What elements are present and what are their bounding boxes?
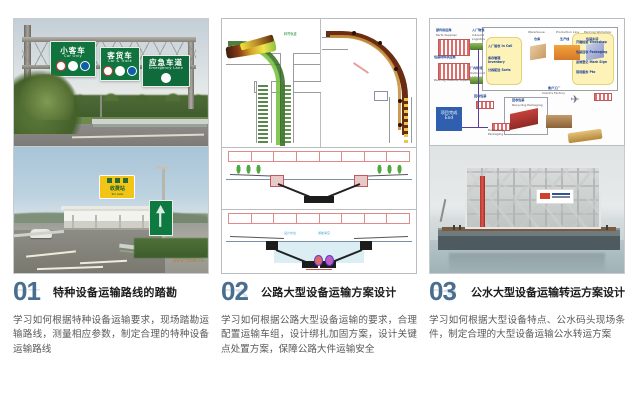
packing-supplier-label-en: Packing Material Supplier bbox=[434, 79, 472, 83]
production-line-label-en: Production Line bbox=[556, 31, 579, 35]
outbound-truck-icon bbox=[470, 77, 483, 84]
road-sign-2-en: Car & Truck bbox=[108, 60, 132, 64]
column-1-media: 小客车 Car Only 客货车 Car & Truck bbox=[13, 18, 209, 274]
section-number-2-reflection: 02 bbox=[221, 287, 248, 301]
banner-text-bar bbox=[552, 193, 570, 195]
swept-hatch-1 bbox=[258, 85, 268, 143]
road-sign-1-cn: 小客车 bbox=[60, 47, 86, 55]
reworking-label: Reworking Packaging bbox=[488, 129, 514, 137]
toll-gate-sign-icons bbox=[107, 178, 128, 183]
toll-gate-sign: 收费站 Toll Gate bbox=[99, 175, 135, 199]
banner-logo-icon bbox=[540, 193, 550, 199]
person-icon bbox=[115, 178, 120, 183]
curve-path-inner bbox=[330, 35, 401, 130]
recycling-label: 回收包装 bbox=[474, 95, 494, 99]
section-number-1: 0101 bbox=[13, 278, 40, 304]
toll-booth-leg bbox=[119, 215, 121, 228]
photo-highway-gantry-signs: 小客车 Car Only 客货车 Car & Truck bbox=[13, 18, 209, 146]
tree-symbol bbox=[397, 165, 402, 175]
project-end-box: 项目完成 End bbox=[436, 107, 462, 131]
curve-node bbox=[378, 41, 382, 45]
road-sign-2-cn: 客货车 bbox=[107, 52, 133, 60]
toll-booth bbox=[64, 209, 149, 229]
dimension-line bbox=[306, 269, 332, 270]
cad-cell bbox=[252, 214, 275, 223]
tree-symbol bbox=[236, 165, 241, 175]
section-number-3-reflection: 03 bbox=[429, 287, 456, 301]
culvert-cross-section: 设计水位 通航净空 bbox=[226, 211, 412, 273]
container-truck-icon bbox=[546, 115, 572, 128]
project-end-en: End bbox=[445, 115, 453, 120]
cad-curve-swept-path bbox=[322, 23, 412, 145]
cad-junction-swept-path: 转弯轨迹 bbox=[226, 23, 320, 145]
tree-symbol bbox=[377, 165, 382, 175]
curve-node bbox=[398, 99, 402, 103]
cad-label-junction: 转弯轨迹 bbox=[284, 31, 297, 36]
cad-title-block bbox=[228, 213, 410, 224]
clearance-label: 通航净空 bbox=[318, 231, 330, 235]
cad-row-bridge-section bbox=[222, 147, 416, 210]
water-level-label: 设计水位 bbox=[284, 231, 296, 235]
cad-cell bbox=[365, 214, 388, 223]
min-speed-icon bbox=[127, 66, 137, 76]
cad-row-plan-views: 转弯轨迹 bbox=[222, 19, 416, 148]
vehicle-icon bbox=[115, 66, 125, 76]
packing-workshop-label-en: Packing Workshop bbox=[584, 31, 611, 35]
section-title-3: 公水大型设备运输转运方案设计 bbox=[471, 284, 625, 300]
crane-mast bbox=[439, 199, 446, 222]
road-sign-3-icons bbox=[161, 73, 171, 83]
embankment-right bbox=[354, 236, 408, 239]
cad-row-culvert-section: 设计水位 通航净空 bbox=[222, 209, 416, 274]
warehouse-label-cn: 仓库 bbox=[534, 38, 540, 42]
photo-steel-module-on-barge bbox=[429, 146, 625, 274]
direction-sign bbox=[149, 200, 173, 236]
centerline-dots bbox=[404, 97, 408, 143]
caption-header-1: 0101 特种设备运输路线的踏勘 bbox=[13, 282, 209, 308]
section-body-1: 学习如何根据特种设备运输要求，现场踏勘运输路线，测量相应参数，制定合理的特种设备… bbox=[13, 314, 209, 357]
caption-header-2: 0202 公路大型设备运输方案设计 bbox=[221, 282, 417, 308]
cad-cell bbox=[252, 152, 275, 161]
water-reflection bbox=[449, 253, 604, 273]
roadside-bush-2 bbox=[20, 74, 74, 120]
warehouse-item-1: 入厂验收 In Call bbox=[488, 45, 518, 49]
media-stack-3: 部件供应商 Parts Supplier 包装材料供应商 Packing Mat… bbox=[429, 18, 625, 274]
client-item-1: 开箱检验 Workshop bbox=[576, 41, 612, 45]
cad-drawing-panel: 转弯轨迹 bbox=[221, 18, 417, 274]
tree-symbol bbox=[387, 165, 392, 175]
cad-cell bbox=[365, 152, 388, 161]
caption-block-2: 0202 公路大型设备运输方案设计 学习如何根据公路大型设备运输的要求，合理配置… bbox=[221, 282, 417, 357]
cad-cell bbox=[229, 152, 252, 161]
client-item-2: 包装回收 Packaging bbox=[576, 51, 612, 55]
swept-hatch-2 bbox=[282, 85, 291, 143]
airplane-icon: ✈ bbox=[566, 95, 584, 105]
toll-booth-leg bbox=[142, 215, 144, 228]
cad-cell bbox=[297, 152, 320, 161]
section-number-1-reflection: 01 bbox=[13, 287, 40, 301]
cad-cell bbox=[320, 214, 343, 223]
packing-supplier-label: 包装材料供应商 bbox=[434, 56, 472, 60]
caption-header-3: 0303 公水大型设备运输转运方案设计 bbox=[429, 282, 625, 308]
cad-note-box bbox=[374, 91, 388, 101]
toll-booth-leg bbox=[72, 215, 74, 228]
truck-icon bbox=[123, 178, 128, 183]
toll-gate-sign-en: Toll Gate bbox=[111, 192, 123, 196]
cad-cell bbox=[274, 152, 297, 161]
project-banner bbox=[536, 189, 574, 204]
project-end-cn: 项目完成 bbox=[441, 110, 458, 115]
section-title-1: 特种设备运输路线的踏勘 bbox=[53, 284, 177, 300]
cad-cell bbox=[387, 152, 409, 161]
cad-cell bbox=[387, 214, 409, 223]
car-icon bbox=[107, 178, 112, 183]
lane-icon bbox=[161, 73, 171, 83]
barge-hull bbox=[438, 228, 620, 250]
parts-supplier-block bbox=[438, 39, 470, 56]
worker bbox=[453, 225, 455, 230]
diagram-logistics-flow: 部件供应商 Parts Supplier 包装材料供应商 Packing Mat… bbox=[429, 18, 625, 146]
cargo-ship-icon bbox=[567, 129, 602, 144]
cad-cell bbox=[342, 152, 365, 161]
light-fixture bbox=[155, 166, 169, 169]
slide-root: 小客车 Car Only 客货车 Car & Truck bbox=[0, 0, 639, 402]
distant-pole bbox=[100, 95, 102, 117]
worker bbox=[459, 225, 461, 230]
warehouse-icon bbox=[530, 44, 546, 61]
toll-booth-leg bbox=[95, 215, 97, 228]
cad-title-block bbox=[228, 151, 410, 162]
cad-cell bbox=[320, 152, 343, 161]
cad-cell bbox=[229, 214, 252, 223]
speed-limit-icon bbox=[103, 66, 113, 76]
swept-path-inner bbox=[232, 45, 280, 145]
road-sign-2: 客货车 Car & Truck bbox=[100, 47, 140, 81]
curve-node bbox=[398, 123, 402, 127]
bridge-cross-section bbox=[226, 149, 412, 207]
client-factory-label-en: Client's Factory bbox=[542, 92, 565, 96]
road-edge-c bbox=[411, 97, 412, 143]
guardrail bbox=[92, 119, 208, 124]
warehouse-item-2: 库存管理 Inventory bbox=[488, 57, 518, 65]
section-number-2: 0202 bbox=[221, 278, 248, 304]
road-sign-1-en: Car Only bbox=[64, 55, 82, 59]
client-item-3: 返修登记 Mark Sign bbox=[576, 61, 612, 65]
inbound-truck-icon bbox=[470, 43, 483, 50]
section-title-2: 公路大型设备运输方案设计 bbox=[261, 284, 397, 300]
curve-node bbox=[394, 67, 398, 71]
flow-line-end bbox=[462, 127, 488, 128]
photo-watermark: www.road.cn bbox=[173, 258, 204, 263]
ground-line bbox=[226, 241, 412, 242]
warehouse-label-en: Warehouse bbox=[528, 31, 545, 35]
worker bbox=[606, 225, 608, 230]
client-item-4: 现场服务 Pto bbox=[576, 71, 612, 75]
cad-cell bbox=[342, 214, 365, 223]
red-column bbox=[480, 176, 485, 227]
caption-block-1: 0101 特种设备运输路线的踏勘 学习如何根据特种设备运输要求，现场踏勘运输路线… bbox=[13, 282, 209, 357]
marker-circle-b bbox=[325, 255, 334, 266]
section-body-2: 学习如何根据公路大型设备运输的要求，合理配置运输车组，设计绑扎加固方案，设计关键… bbox=[221, 314, 417, 357]
column-2-media: 转弯轨迹 bbox=[221, 18, 417, 274]
flow-line-vertical bbox=[478, 49, 479, 127]
section-body-3: 学习如何根据大型设备特点、公水码头现场条件，制定合理的大型设备运输公水转运方案 bbox=[429, 314, 625, 343]
cad-cell bbox=[274, 214, 297, 223]
media-stack-1: 小客车 Car Only 客货车 Car & Truck bbox=[13, 18, 209, 274]
caption-block-3: 0303 公水大型设备运输转运方案设计 学习如何根据大型设备特点、公水码头现场条… bbox=[429, 282, 625, 343]
curve-node bbox=[352, 31, 356, 35]
toll-gate-sign-cn: 收费站 bbox=[110, 185, 125, 192]
parts-supplier-label-en: Parts Supplier bbox=[436, 34, 470, 38]
foundation-right bbox=[318, 196, 334, 203]
section-number-3: 0303 bbox=[429, 278, 456, 304]
production-line-label-cn: 生产线 bbox=[560, 38, 569, 42]
road-sign-3: 应急车道 Emergency Lane bbox=[142, 55, 190, 87]
tree-symbol bbox=[246, 165, 251, 175]
roadside-hedge bbox=[134, 238, 208, 258]
outbound-badge bbox=[594, 93, 612, 101]
photo-toll-gate-entrance: 收费站 Toll Gate www.road.cn bbox=[13, 146, 209, 274]
embankment-left bbox=[230, 236, 284, 239]
marker-circle-a bbox=[314, 255, 323, 266]
warehouse-item-3: 分拣配送 Sorts bbox=[488, 69, 518, 73]
road-sign-3-en: Emergency Lane bbox=[149, 67, 183, 71]
road-sign-3-cn: 应急车道 bbox=[149, 59, 183, 67]
inbound-logistics-label-en: Inbound Logistics bbox=[472, 34, 488, 42]
column-3-media: 部件供应商 Parts Supplier 包装材料供应商 Packing Mat… bbox=[429, 18, 625, 274]
ground-line bbox=[226, 179, 412, 180]
road-sign-2-icons bbox=[103, 66, 137, 76]
tree-symbol bbox=[256, 165, 261, 175]
cad-cell bbox=[297, 214, 320, 223]
